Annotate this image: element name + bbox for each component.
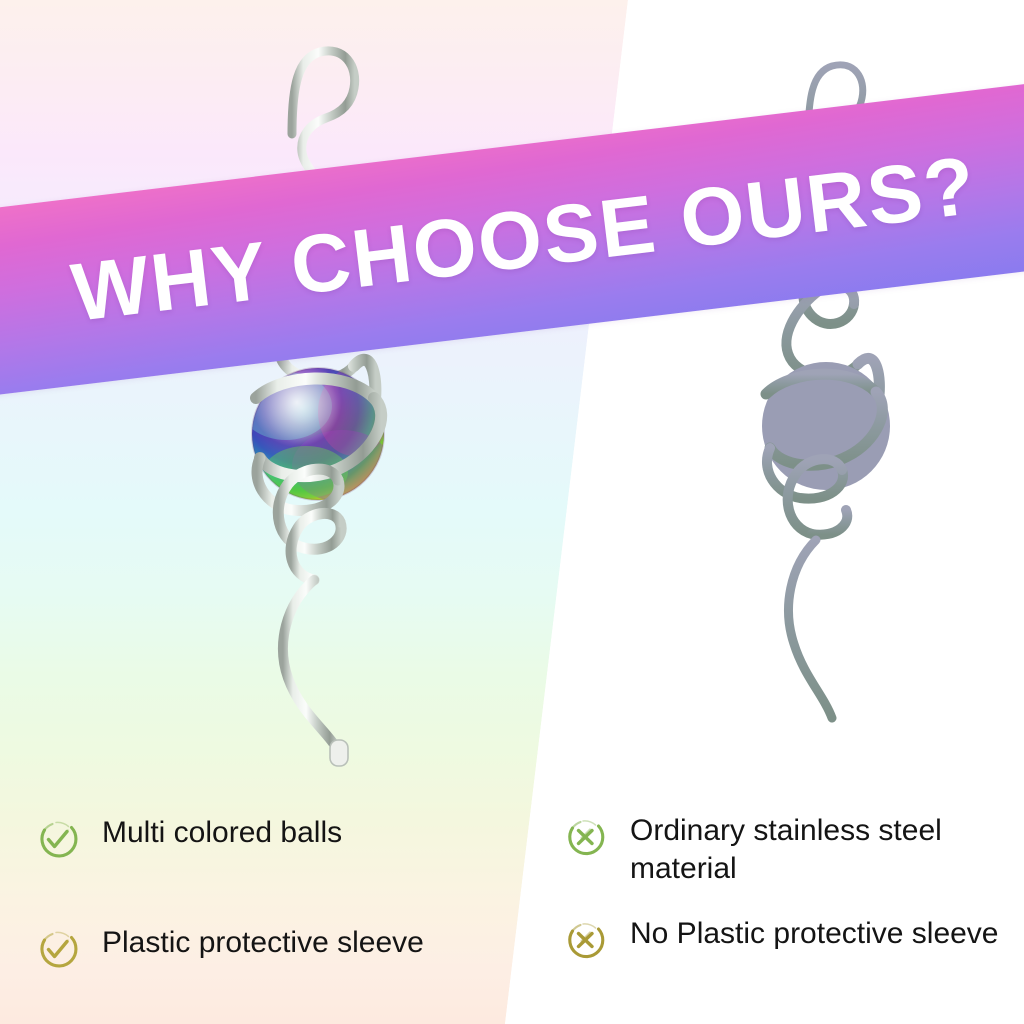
feature-row: Plastic protective sleeve xyxy=(34,924,512,972)
feature-row: Ordinary stainless steel material xyxy=(562,812,1024,889)
feature-label: No Plastic protective sleeve xyxy=(630,915,999,953)
circle-check-icon xyxy=(34,926,80,972)
spiral-tail xyxy=(789,540,832,718)
spiral-tail xyxy=(283,580,338,750)
feature-row: Multi colored balls xyxy=(34,814,512,862)
circle-cross-icon xyxy=(562,814,608,860)
infographic-canvas: WHY CHOOSE OURS? Multi colored balls xyxy=(0,0,1024,1024)
product-ours-image xyxy=(178,14,458,774)
feature-column-theirs: Ordinary stainless steel material No Pla… xyxy=(512,792,1024,1024)
plastic-sleeve-tip xyxy=(330,740,348,766)
circle-check-icon xyxy=(34,816,80,862)
feature-comparison: Multi colored balls Plastic protective s… xyxy=(0,792,1024,1024)
feature-label: Plastic protective sleeve xyxy=(102,924,424,962)
feature-label: Multi colored balls xyxy=(102,814,342,852)
circle-cross-icon xyxy=(562,917,608,963)
feature-row: No Plastic protective sleeve xyxy=(562,915,1024,963)
feature-column-ours: Multi colored balls Plastic protective s… xyxy=(0,792,512,1024)
feature-label: Ordinary stainless steel material xyxy=(630,812,1002,889)
